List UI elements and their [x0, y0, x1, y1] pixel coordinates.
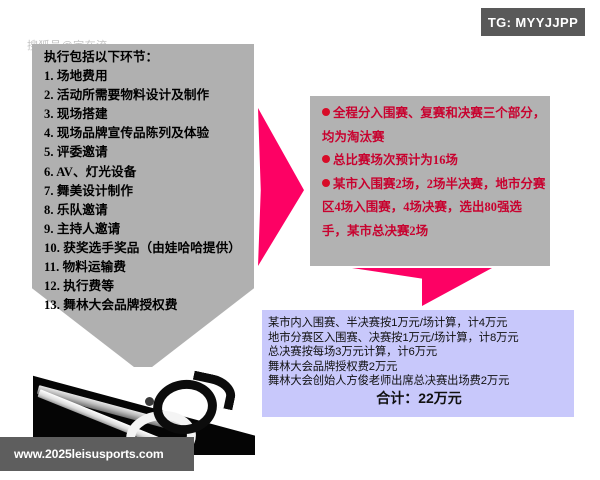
format-bullet-2-row: 总比赛场次预计为16场 — [322, 149, 546, 173]
cost-line-2: 地市分赛区入围赛、决赛按1万元/场计算，计8万元 — [268, 331, 570, 346]
format-bullet-3-row: 某市入围赛2场，2场半决赛，地市分赛区4场入围赛，4场决赛，选出80强选手，某市… — [322, 173, 546, 244]
cost-breakdown-text: 某市内入围赛、半决赛按1万元/场计算，计4万元 地市分赛区入围赛、决赛按1万元/… — [268, 316, 570, 389]
format-bullet-1-row: 全程分入围赛、复赛和决赛三个部分，均为淘汰赛 — [322, 102, 546, 149]
cost-total-label: 合计： — [376, 390, 418, 406]
cost-line-3: 总决赛按每场3万元计算，计6万元 — [268, 345, 570, 360]
execution-item-9: 9. 主持人邀请 — [44, 220, 249, 239]
slide-canvas: 搜狐号@宇在流 TG: MYYJJPP 执行包括以下环节： 1. 场地费用 2.… — [0, 0, 600, 480]
execution-item-10: 10. 获奖选手奖品（由娃哈哈提供） — [44, 239, 249, 258]
format-bullet-2: 总比赛场次预计为16场 — [333, 153, 458, 167]
cost-total-value: 22万元 — [418, 390, 462, 406]
cost-total-row: 合计：22万元 — [268, 388, 570, 408]
execution-item-8: 8. 乐队邀请 — [44, 201, 249, 220]
cost-line-4: 舞林大会品牌授权费2万元 — [268, 360, 570, 375]
telegram-handle-badge: TG: MYYJJPP — [481, 8, 585, 36]
cost-line-1: 某市内入围赛、半决赛按1万元/场计算，计4万元 — [268, 316, 570, 331]
arrow-down-icon — [352, 268, 492, 306]
bullet-dot-icon — [322, 179, 330, 187]
execution-item-1: 1. 场地费用 — [44, 67, 249, 86]
execution-item-4: 4. 现场品牌宣传品陈列及体验 — [44, 124, 249, 143]
execution-item-11: 11. 物料运输费 — [44, 258, 249, 277]
execution-item-7: 7. 舞美设计制作 — [44, 182, 249, 201]
tg-badge-label: TG: MYYJJPP — [488, 15, 578, 30]
scissors-pivot-screw — [145, 397, 154, 406]
execution-item-5: 5. 评委邀请 — [44, 143, 249, 162]
execution-item-6: 6. AV、灯光设备 — [44, 163, 249, 182]
format-bullet-3: 某市入围赛2场，2场半决赛，地市分赛区4场入围赛，4场决赛，选出80强选手，某市… — [322, 177, 545, 238]
execution-item-13: 13. 舞林大会品牌授权费 — [44, 296, 249, 315]
execution-items-text: 执行包括以下环节： 1. 场地费用 2. 活动所需要物料设计及制作 3. 现场搭… — [44, 48, 249, 315]
arrow-right-icon — [258, 108, 304, 266]
cost-line-5: 舞林大会创始人方俊老师出席总决赛出场费2万元 — [268, 374, 570, 389]
execution-item-12: 12. 执行费等 — [44, 277, 249, 296]
format-bullet-1: 全程分入围赛、复赛和决赛三个部分，均为淘汰赛 — [322, 106, 545, 144]
execution-item-3: 3. 现场搭建 — [44, 105, 249, 124]
bullet-dot-icon — [322, 155, 330, 163]
execution-heading: 执行包括以下环节： — [44, 48, 249, 67]
competition-format-text: 全程分入围赛、复赛和决赛三个部分，均为淘汰赛 总比赛场次预计为16场 某市入围赛… — [322, 102, 546, 243]
footer-url-bar: www.2025leisusports.com — [0, 437, 194, 471]
execution-item-2: 2. 活动所需要物料设计及制作 — [44, 86, 249, 105]
bullet-dot-icon — [322, 108, 330, 116]
footer-url-label: www.2025leisusports.com — [14, 447, 164, 461]
